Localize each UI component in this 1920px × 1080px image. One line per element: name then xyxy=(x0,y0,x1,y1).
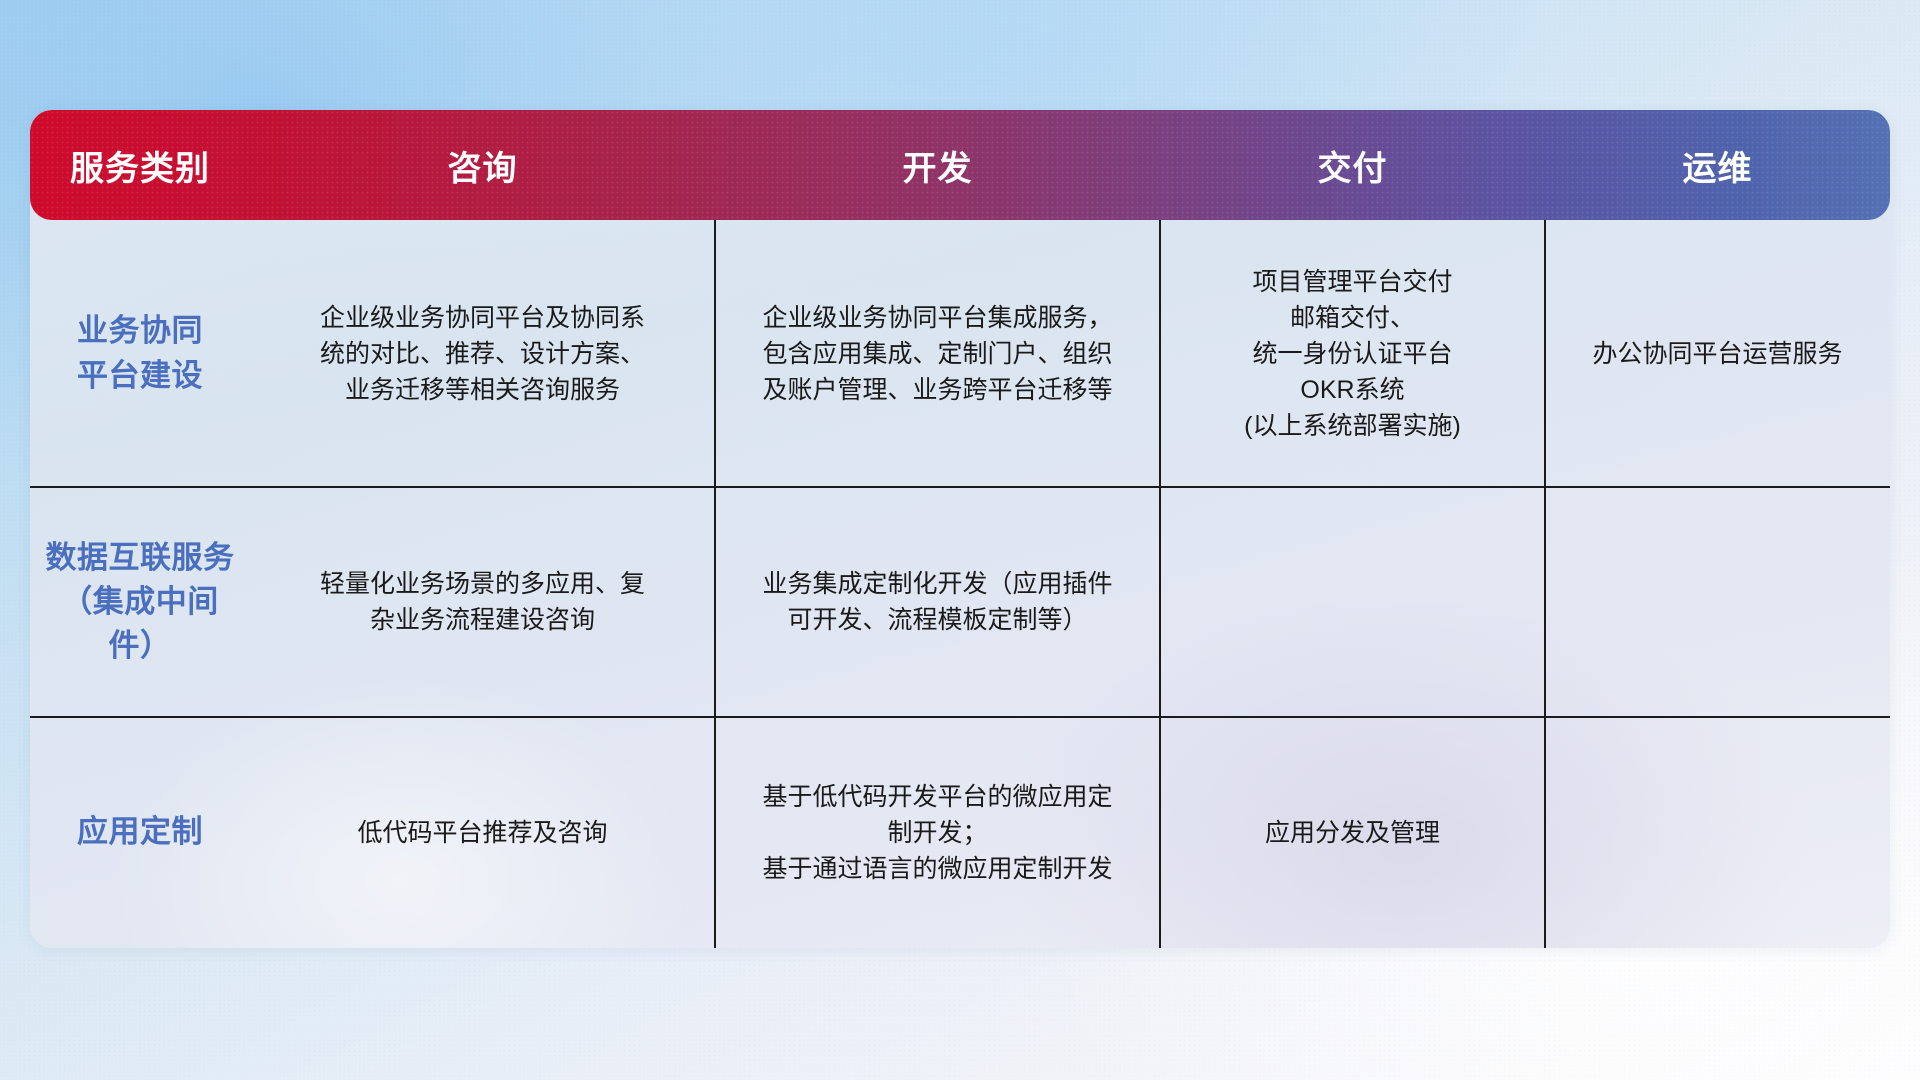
cell-operations: 办公协同平台运营服务 xyxy=(1545,220,1890,487)
cell-operations xyxy=(1545,717,1890,948)
cell-development: 基于低代码开发平台的微应用定 制开发； 基于通过语言的微应用定制开发 xyxy=(715,717,1160,948)
cell-development: 企业级业务协同平台集成服务， 包含应用集成、定制门户、组织 及账户管理、业务跨平… xyxy=(715,220,1160,487)
row-category-label: 业务协同 平台建设 xyxy=(77,309,203,397)
column-header-development: 开发 xyxy=(715,141,1160,190)
row-category-label: 应用定制 xyxy=(77,810,203,854)
cell-text: 项目管理平台交付 邮箱交付、 统一身份认证平台 OKR系统 (以上系统部署实施) xyxy=(1244,264,1461,444)
table-body: 业务协同 平台建设 企业级业务协同平台及协同系 统的对比、推荐、设计方案、 业务… xyxy=(30,220,1890,948)
cell-consulting: 低代码平台推荐及咨询 xyxy=(250,717,715,948)
table-row: 应用定制 低代码平台推荐及咨询 基于低代码开发平台的微应用定 制开发； 基于通过… xyxy=(30,717,1890,948)
cell-text: 企业级业务协同平台及协同系 统的对比、推荐、设计方案、 业务迁移等相关咨询服务 xyxy=(320,300,645,408)
cell-delivery: 应用分发及管理 xyxy=(1160,717,1545,948)
cell-development: 业务集成定制化开发（应用插件 可开发、流程模板定制等） xyxy=(715,487,1160,717)
table-row: 数据互联服务 （集成中间件） 轻量化业务场景的多应用、复 杂业务流程建设咨询 业… xyxy=(30,487,1890,717)
cell-delivery xyxy=(1160,487,1545,717)
cell-consulting: 轻量化业务场景的多应用、复 杂业务流程建设咨询 xyxy=(250,487,715,717)
row-category-cell: 业务协同 平台建设 xyxy=(30,220,250,487)
column-header-operations: 运维 xyxy=(1545,141,1890,190)
column-header-delivery: 交付 xyxy=(1160,141,1545,190)
cell-operations xyxy=(1545,487,1890,717)
service-matrix-table: 服务类别 咨询 开发 交付 运维 业务协同 平台建设 企业级业务协同平台及协同系… xyxy=(30,110,1890,948)
row-category-cell: 应用定制 xyxy=(30,717,250,948)
cell-text: 基于低代码开发平台的微应用定 制开发； 基于通过语言的微应用定制开发 xyxy=(762,779,1112,887)
column-header-category: 服务类别 xyxy=(30,141,250,190)
table-header-row: 服务类别 咨询 开发 交付 运维 xyxy=(30,110,1890,220)
cell-text: 业务集成定制化开发（应用插件 可开发、流程模板定制等） xyxy=(762,566,1112,638)
row-category-label: 数据互联服务 （集成中间件） xyxy=(44,536,236,668)
cell-delivery: 项目管理平台交付 邮箱交付、 统一身份认证平台 OKR系统 (以上系统部署实施) xyxy=(1160,220,1545,487)
cell-consulting: 企业级业务协同平台及协同系 统的对比、推荐、设计方案、 业务迁移等相关咨询服务 xyxy=(250,220,715,487)
table-row: 业务协同 平台建设 企业级业务协同平台及协同系 统的对比、推荐、设计方案、 业务… xyxy=(30,220,1890,487)
column-header-consulting: 咨询 xyxy=(250,141,715,190)
cell-text: 企业级业务协同平台集成服务， 包含应用集成、定制门户、组织 及账户管理、业务跨平… xyxy=(762,300,1112,408)
cell-text: 办公协同平台运营服务 xyxy=(1592,336,1842,372)
cell-text: 轻量化业务场景的多应用、复 杂业务流程建设咨询 xyxy=(320,566,645,638)
cell-text: 应用分发及管理 xyxy=(1265,815,1440,851)
cell-text: 低代码平台推荐及咨询 xyxy=(357,815,607,851)
row-category-cell: 数据互联服务 （集成中间件） xyxy=(30,487,250,717)
